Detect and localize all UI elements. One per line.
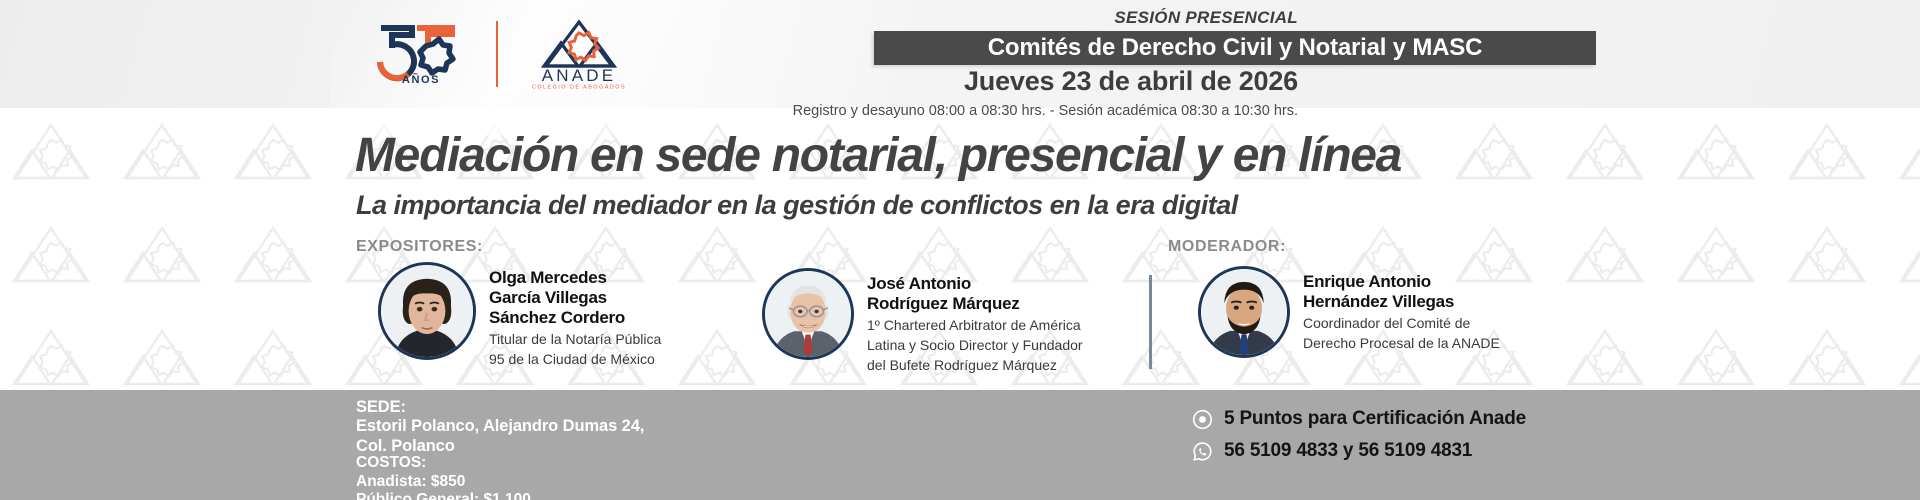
moderator-name-line: Hernández Villegas <box>1303 292 1500 312</box>
anade-logo: ANADE COLEGIO DE ABOGADOS <box>520 18 638 90</box>
speaker-role-line: Titular de la Notaría Pública <box>489 331 661 348</box>
moderator-info: Enrique Antonio Hernández Villegas Coord… <box>1303 266 1500 352</box>
phone-text: 56 5109 4833 y 56 5109 4831 <box>1224 440 1472 462</box>
speaker-name-line: Olga Mercedes <box>489 268 661 288</box>
moderator-role-line: Coordinador del Comité de <box>1303 315 1500 332</box>
certification-row: 5 Puntos para Certificación Anade <box>1192 408 1526 430</box>
svg-text:ANADE: ANADE <box>542 66 617 85</box>
whatsapp-icon <box>1192 441 1213 462</box>
event-banner: AÑOS ANADE COLEGIO DE ABOGADOS SESIÓN PR… <box>0 0 1920 500</box>
speaker-name-line: García Villegas <box>489 288 661 308</box>
speaker-name-line: Rodríguez Márquez <box>867 294 1083 314</box>
speaker-card-1: Olga Mercedes García Villegas Sánchez Co… <box>378 262 661 368</box>
contact-block: 5 Puntos para Certificación Anade 56 510… <box>1192 408 1526 462</box>
footer-bar <box>0 390 1920 500</box>
venue-label: SEDE: <box>356 398 644 417</box>
venue-address-line-1: Estoril Polanco, Alejandro Dumas 24, <box>356 417 644 436</box>
event-schedule: Registro y desayuno 08:00 a 08:30 hrs. -… <box>793 103 1298 119</box>
target-dot-icon <box>1192 409 1213 430</box>
cost-general: Público General: $1,100 <box>356 491 531 500</box>
costs-block: COSTOS: Anadista: $850 Público General: … <box>356 454 531 500</box>
event-date: Jueves 23 de abril de 2026 <box>964 66 1298 97</box>
avatar <box>1198 266 1290 358</box>
modality-label: SESIÓN PRESENCIAL <box>1114 8 1298 28</box>
phone-row[interactable]: 56 5109 4833 y 56 5109 4831 <box>1192 440 1526 462</box>
venue-block: SEDE: Estoril Polanco, Alejandro Dumas 2… <box>356 398 644 456</box>
anniversary-55-logo: AÑOS <box>368 22 474 86</box>
logo-group: AÑOS ANADE COLEGIO DE ABOGADOS <box>368 18 638 90</box>
logo-divider <box>496 21 498 87</box>
speaker-name-line: José Antonio <box>867 274 1083 294</box>
speaker-info: Olga Mercedes García Villegas Sánchez Co… <box>489 262 661 368</box>
svg-text:AÑOS: AÑOS <box>402 73 440 86</box>
moderator-card: Enrique Antonio Hernández Villegas Coord… <box>1198 266 1500 358</box>
moderator-role-line: Derecho Procesal de la ANADE <box>1303 335 1500 352</box>
committee-bar-text: Comités de Derecho Civil y Notarial y MA… <box>988 34 1482 62</box>
speaker-role-line: 1º Chartered Arbitrator de América <box>867 317 1083 334</box>
speaker-role-line: Latina y Socio Director y Fundador <box>867 337 1083 354</box>
section-divider <box>1149 275 1152 369</box>
cost-member: Anadista: $850 <box>356 473 531 492</box>
speaker-name-line: Sánchez Cordero <box>489 308 661 328</box>
avatar <box>762 268 854 360</box>
svg-text:COLEGIO DE ABOGADOS: COLEGIO DE ABOGADOS <box>532 85 626 91</box>
speaker-info: José Antonio Rodríguez Márquez 1º Charte… <box>867 268 1083 375</box>
moderator-name-line: Enrique Antonio <box>1303 272 1500 292</box>
avatar <box>378 262 476 360</box>
speaker-role-line: del Bufete Rodríguez Márquez <box>867 357 1083 374</box>
moderator-label: MODERADOR: <box>1168 238 1286 256</box>
costs-label: COSTOS: <box>356 454 531 473</box>
page-title: Mediación en sede notarial, presencial y… <box>355 128 1605 183</box>
speaker-card-2: José Antonio Rodríguez Márquez 1º Charte… <box>762 268 1083 375</box>
speakers-label: EXPOSITORES: <box>356 238 483 256</box>
committee-bar: Comités de Derecho Civil y Notarial y MA… <box>874 31 1596 65</box>
certification-text: 5 Puntos para Certificación Anade <box>1224 408 1526 430</box>
speaker-role-line: 95 de la Ciudad de México <box>489 351 661 368</box>
page-subtitle: La importancia del mediador en la gestió… <box>356 190 1606 221</box>
